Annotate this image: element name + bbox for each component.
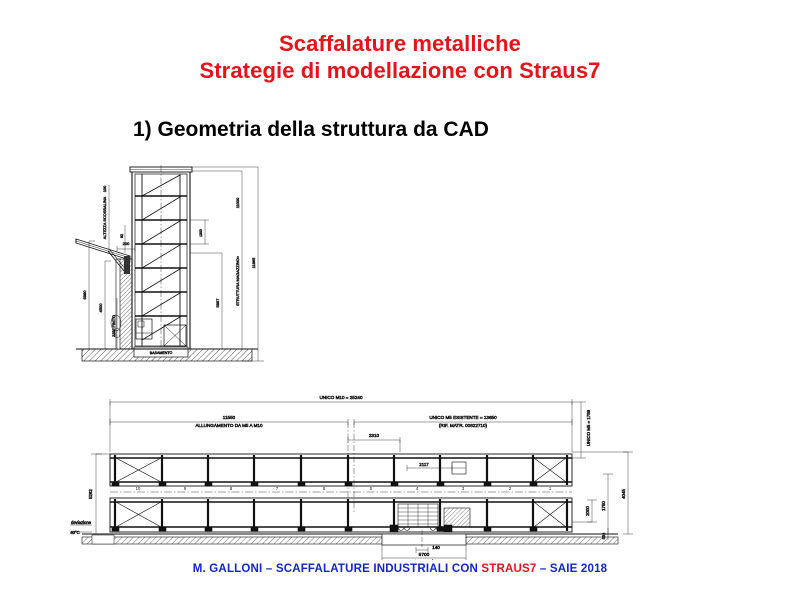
dim-11000: 11000 xyxy=(235,197,240,208)
bay-label: 6 xyxy=(323,486,326,491)
label-allungamento: ALLUNGAMENTO DA M5 A M10 xyxy=(195,423,263,428)
bay-label: 7 xyxy=(276,486,279,491)
dim-4500: 4500 xyxy=(98,303,103,313)
dim-5262: 5262 xyxy=(88,489,93,499)
dim-200: 200 xyxy=(123,241,130,246)
dim-6880: 6880 xyxy=(82,290,87,300)
dim-1300: 1300 xyxy=(199,229,203,237)
title-line-1: Scaffalature metalliche xyxy=(0,30,800,57)
label-basamento: BASAMENTO xyxy=(150,351,173,355)
dim-1750: 1750 xyxy=(601,501,606,511)
bay-label: 8 xyxy=(230,486,233,491)
dim-100: 100 xyxy=(102,185,107,192)
slide-footer: M. GALLONI – SCAFFALATURE INDUSTRIALI CO… xyxy=(0,563,800,575)
dim-2250-finito: 2250 FINITO xyxy=(112,315,116,337)
dim-2000: 2000 xyxy=(585,506,590,516)
bay-label: 10 xyxy=(136,486,141,491)
bay-label: 1 xyxy=(549,486,552,491)
dim-2117: 2117 xyxy=(419,462,429,467)
footer-part-2: – SAIE 2018 xyxy=(536,563,607,575)
bay-label: 2 xyxy=(509,486,512,491)
title-line-2: Strategie di modellazione con Straus7 xyxy=(0,57,800,84)
dim-vano-m5-esistente: UNICO M5 ESISTENTE = 13650 xyxy=(429,415,497,420)
dim-11550: 11550 xyxy=(223,415,236,420)
slide-title: Scaffalature metalliche Strategie di mod… xyxy=(0,30,800,84)
cad-elevation-drawing: BASAMENTO xyxy=(72,163,312,375)
dim-5867: 5867 xyxy=(215,298,220,308)
dim-92: 92 xyxy=(120,234,124,238)
dim-5700: 5700 xyxy=(419,552,430,558)
label-rif-matricola: (RIF. MATR. 00822710) xyxy=(439,423,488,428)
cad-longitudinal-drawing: UNICO M10 = 25240 11550 ALLUNGAMENTO DA … xyxy=(62,382,638,560)
section-heading: 1) Geometria della struttura da CAD xyxy=(133,117,489,143)
dim-4045: 4045 xyxy=(621,489,626,499)
label-deviazione: deviazione xyxy=(71,520,92,525)
dim-struttura-magazzino: STRUTTURA MAGAZZINO= xyxy=(235,255,240,306)
dim-552: 552 xyxy=(601,532,606,539)
bay-label: 5 xyxy=(370,486,373,491)
label-apertura-per-base: apertura per base xyxy=(406,559,443,560)
bay-label: 3 xyxy=(462,486,465,491)
dim-vano-m5: UNICO M5 = 1789 xyxy=(586,409,591,446)
label-deviazione-value: 40°C xyxy=(70,530,79,535)
dim-140: 140 xyxy=(432,545,440,550)
bay-label: 9 xyxy=(184,486,187,491)
footer-part-1: M. GALLONI – SCAFFALATURE INDUSTRIALI CO… xyxy=(193,563,482,575)
slide-canvas: Scaffalature metalliche Strategie di mod… xyxy=(0,0,800,600)
dim-altezza-scossalina: ALTEZZA SCOSSALINA xyxy=(102,196,107,239)
bay-label: 4 xyxy=(416,486,419,491)
dim-2310: 2310 xyxy=(369,433,380,438)
footer-highlight: STRAUS7 xyxy=(481,563,536,575)
dim-11865: 11865 xyxy=(251,257,256,269)
dim-vano-m10: UNICO M10 = 25240 xyxy=(319,395,362,400)
